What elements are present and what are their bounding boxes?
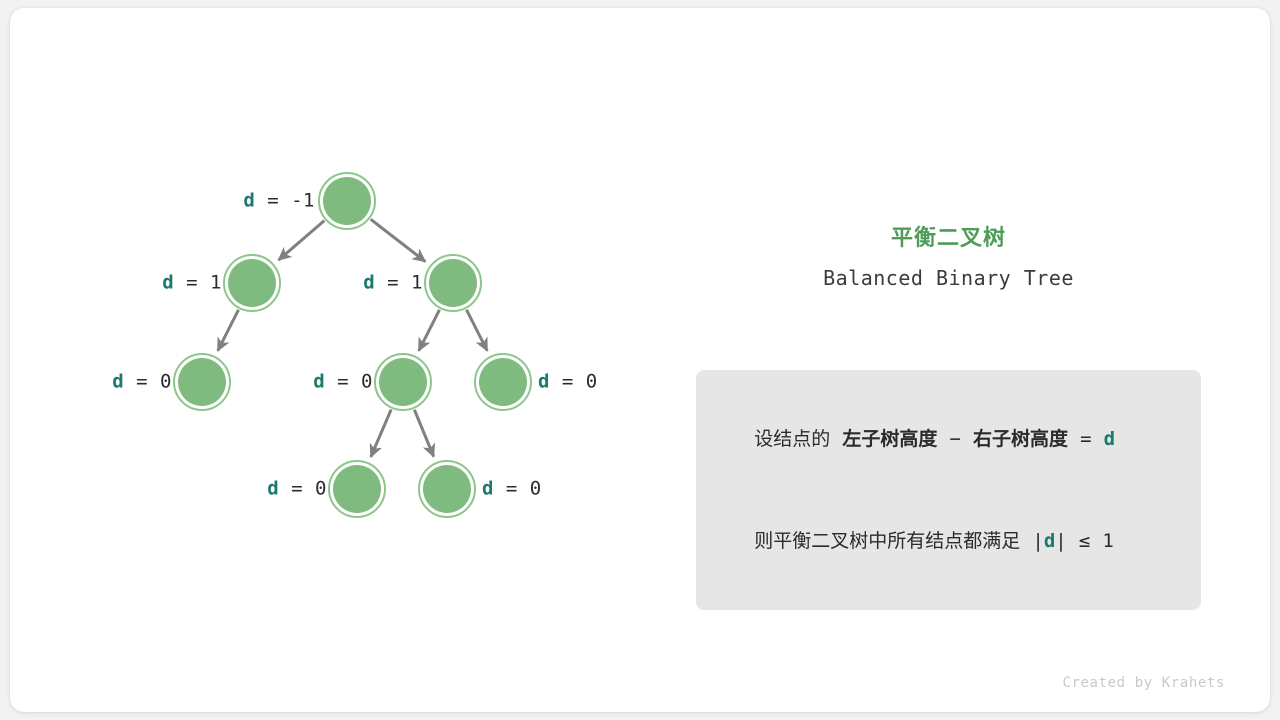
node-d-variable: d (267, 478, 279, 500)
node-d-variable: d (538, 371, 550, 393)
node-d-variable: d (482, 478, 494, 500)
node-disc (228, 259, 276, 307)
node-disc (333, 465, 381, 513)
tree-node[interactable] (475, 354, 531, 410)
node-disc (323, 177, 371, 225)
panel-subtitle: Balanced Binary Tree (696, 263, 1201, 293)
legend-panel: 平衡二叉树 Balanced Binary Tree (696, 224, 1201, 293)
relation-operator: ≤ (1079, 530, 1090, 552)
tree-node[interactable] (174, 354, 230, 410)
node-d-variable: d (162, 272, 174, 294)
node-balance-label: d = 0 (538, 373, 598, 392)
tree-node[interactable] (224, 255, 280, 311)
node-d-variable: d (313, 371, 325, 393)
node-d-variable: d (363, 272, 375, 294)
node-disc (379, 358, 427, 406)
equals-operator: = (1080, 428, 1091, 450)
node-d-variable: d (243, 190, 255, 212)
tree-node[interactable] (329, 461, 385, 517)
tree-node[interactable] (425, 255, 481, 311)
term-left-subtree-height: 左子树高度 (842, 428, 937, 450)
node-d-value: = 1 (375, 272, 423, 294)
node-disc (423, 465, 471, 513)
definition-box: 设结点的 左子树高度 − 右子树高度 = d 则平衡二叉树中所有结点都满足 |d… (696, 370, 1201, 610)
bound-value: 1 (1102, 530, 1113, 552)
node-d-value: = 0 (124, 371, 172, 393)
tree-edge (414, 410, 433, 457)
node-d-value: = 0 (325, 371, 373, 393)
tree-node[interactable] (419, 461, 475, 517)
node-disc (479, 358, 527, 406)
tree-edge (371, 410, 391, 457)
node-balance-label: d = 0 (112, 373, 172, 392)
node-d-value: = 1 (174, 272, 222, 294)
node-disc (178, 358, 226, 406)
node-balance-label: d = 0 (313, 373, 373, 392)
node-balance-label: d = 0 (482, 480, 542, 499)
binary-tree-graphic (0, 0, 1280, 720)
node-d-value: = 0 (494, 478, 542, 500)
node-d-variable: d (112, 371, 124, 393)
node-disc (429, 259, 477, 307)
d-variable-2: d (1044, 530, 1055, 552)
condition-prefix: 则平衡二叉树中所有结点都满足 (754, 530, 1020, 552)
abs-bar-open: | (1032, 530, 1043, 552)
tree-node[interactable] (319, 173, 375, 229)
panel-title: 平衡二叉树 (696, 224, 1201, 254)
tree-edge (467, 310, 488, 351)
node-d-value: = 0 (279, 478, 327, 500)
tree-node[interactable] (375, 354, 431, 410)
node-balance-label: d = 1 (162, 274, 222, 293)
credit-footer: Created by Krahets (0, 675, 1225, 691)
minus-operator: − (949, 428, 960, 450)
tree-edge (419, 310, 440, 351)
abs-bar-close: | (1055, 530, 1066, 552)
term-right-subtree-height: 右子树高度 (973, 428, 1068, 450)
d-variable-1: d (1104, 428, 1115, 450)
definition-line-2: 则平衡二叉树中所有结点都满足 |d| ≤ 1 (718, 490, 1179, 592)
node-balance-label: d = -1 (243, 192, 315, 211)
definition-prefix: 设结点的 (754, 428, 830, 450)
node-balance-label: d = 0 (267, 480, 327, 499)
tree-edge (371, 219, 426, 261)
diagram-canvas: d = -1d = 1d = 1d = 0d = 0d = 0d = 0d = … (0, 0, 1280, 720)
definition-line-1: 设结点的 左子树高度 − 右子树高度 = d (718, 388, 1179, 490)
node-balance-label: d = 1 (363, 274, 423, 293)
node-d-value: = 0 (550, 371, 598, 393)
tree-node-layer (174, 173, 531, 517)
tree-edge (278, 221, 324, 261)
node-d-value: = -1 (255, 190, 315, 212)
tree-edge (218, 310, 239, 351)
